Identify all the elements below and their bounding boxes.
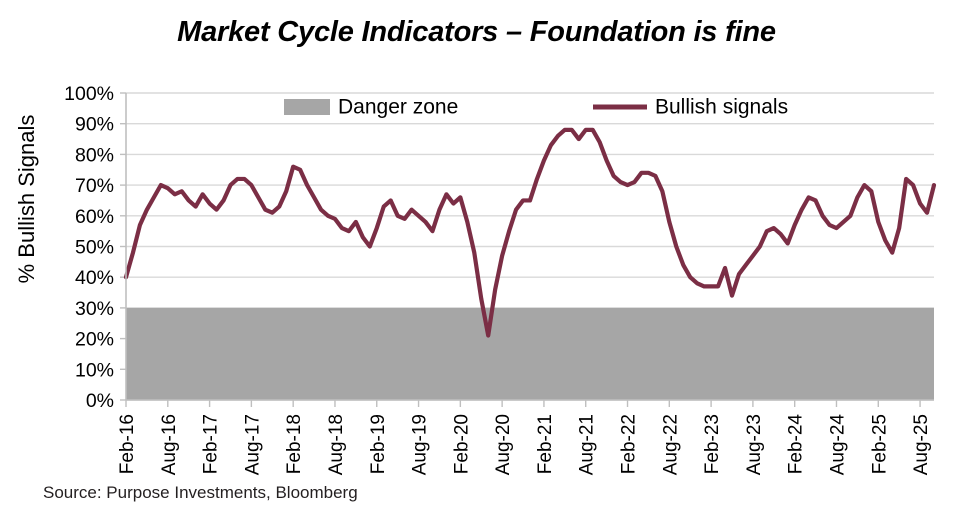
x-axis-tick-label: Aug-25: [911, 414, 932, 475]
x-axis-tick-label: Aug-24: [827, 414, 848, 476]
x-axis-tick-label: Feb-19: [368, 414, 389, 474]
x-axis-tick-label: Feb-24: [786, 414, 807, 475]
y-axis-tick-label: 70%: [75, 175, 114, 197]
x-axis-tick-label: Feb-17: [201, 414, 222, 474]
y-axis-tick-label: 80%: [75, 144, 114, 166]
data-series: [126, 130, 934, 336]
legend-label-danger-zone: Danger zone: [338, 96, 458, 119]
y-axis-tick-label: 60%: [75, 206, 114, 228]
y-axis-tick-label: 30%: [75, 298, 114, 320]
y-axis-tick-label: 100%: [64, 83, 114, 105]
danger-zone-band: [126, 308, 934, 400]
x-axis-ticks: Feb-16Aug-16Feb-17Aug-17Feb-18Aug-18Feb-…: [117, 400, 932, 475]
y-axis-tick-label: 50%: [75, 237, 114, 259]
x-axis-tick-label: Aug-19: [410, 414, 431, 475]
x-axis-tick-label: Feb-22: [619, 414, 640, 474]
x-axis-tick-label: Aug-23: [744, 414, 765, 475]
legend-label-bullish-signals: Bullish signals: [655, 96, 788, 119]
series-line-bullish-signals: [126, 130, 934, 336]
x-axis-tick-label: Aug-22: [660, 414, 681, 475]
x-axis-tick-label: Aug-17: [242, 414, 263, 475]
legend-swatch-danger-zone: [284, 99, 330, 115]
x-axis-tick-label: Aug-18: [326, 414, 347, 475]
y-axis-tick-label: 0%: [86, 390, 114, 412]
chart-legend: Danger zone Bullish signals: [284, 96, 788, 119]
x-axis-tick-label: Aug-20: [493, 414, 514, 475]
plot-area: 0%10%20%30%40%50%60%70%80%90%100% Feb-16…: [0, 0, 953, 519]
x-axis-tick-label: Aug-16: [159, 414, 180, 475]
x-axis-tick-label: Feb-21: [535, 414, 556, 474]
x-axis-tick-label: Feb-16: [117, 414, 138, 474]
x-axis-tick-label: Aug-21: [577, 414, 598, 475]
y-axis-ticks: 0%10%20%30%40%50%60%70%80%90%100%: [64, 83, 126, 412]
y-axis-tick-label: 20%: [75, 329, 114, 351]
y-axis-tick-label: 40%: [75, 267, 114, 289]
source-note: Source: Purpose Investments, Bloomberg: [43, 483, 358, 503]
x-axis-tick-label: Feb-25: [869, 414, 890, 474]
x-axis-tick-label: Feb-18: [284, 414, 305, 474]
chart-container: Market Cycle Indicators – Foundation is …: [0, 0, 953, 519]
y-axis-tick-label: 90%: [75, 114, 114, 136]
x-axis-tick-label: Feb-23: [702, 414, 723, 474]
y-axis-tick-label: 10%: [75, 359, 114, 381]
x-axis-tick-label: Feb-20: [451, 414, 472, 474]
